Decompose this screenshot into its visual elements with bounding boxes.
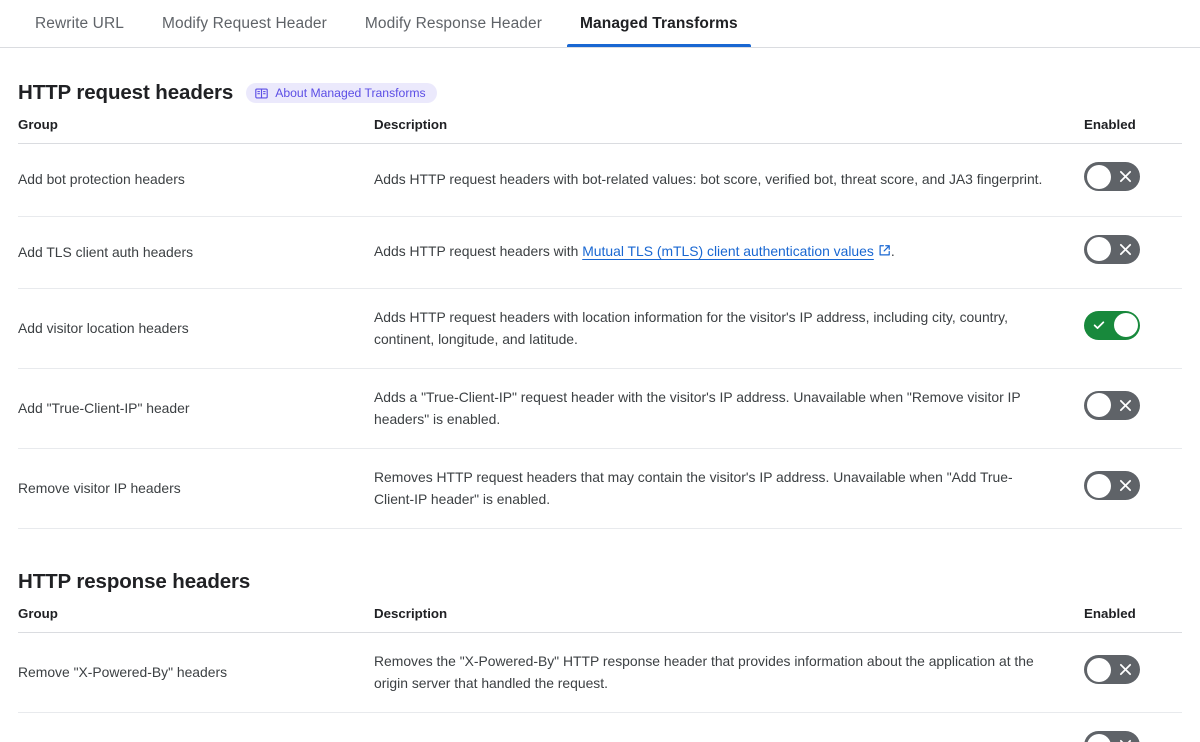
table-row: Add TLS client auth headers Adds HTTP re…	[18, 216, 1182, 289]
row-group-name: Add "True-Client-IP" header	[18, 369, 374, 449]
table-row: Add "True-Client-IP" header Adds a "True…	[18, 369, 1182, 449]
toggle-knob	[1114, 313, 1138, 337]
row-enabled-cell	[1084, 369, 1182, 449]
row-description: Removes the "X-Powered-By" HTTP response…	[374, 633, 1084, 713]
toggle-knob	[1087, 734, 1111, 742]
row-description: Adds HTTP request headers with bot-relat…	[374, 144, 1084, 217]
description-text: Adds HTTP request headers with location …	[374, 309, 1008, 347]
row-description: Adds HTTP request headers with location …	[374, 289, 1084, 369]
tab-rewrite-url[interactable]: Rewrite URL	[22, 0, 137, 47]
row-enabled-cell	[1084, 713, 1182, 742]
tab-label: Managed Transforms	[580, 15, 738, 33]
mtls-docs-link[interactable]: Mutual TLS (mTLS) client authentication …	[582, 243, 874, 259]
row-enabled-cell	[1084, 633, 1182, 713]
cross-icon	[1111, 391, 1140, 420]
enabled-toggle[interactable]	[1084, 311, 1140, 340]
description-text: Removes the "X-Powered-By" HTTP response…	[374, 653, 1034, 691]
request-section-header: HTTP request headers About Managed Trans…	[18, 81, 1182, 105]
row-enabled-cell	[1084, 449, 1182, 529]
tab-label: Rewrite URL	[35, 15, 124, 33]
description-text: Adds HTTP request headers with bot-relat…	[374, 171, 1042, 187]
enabled-toggle[interactable]	[1084, 731, 1140, 742]
row-enabled-cell	[1084, 216, 1182, 289]
check-icon	[1084, 311, 1113, 340]
cross-icon	[1111, 731, 1140, 742]
http-request-headers-section: HTTP request headers About Managed Trans…	[0, 81, 1200, 529]
column-header-description: Description	[374, 117, 1084, 144]
column-header-group: Group	[18, 606, 374, 633]
row-description: Removes HTTP request headers that may co…	[374, 449, 1084, 529]
toggle-knob	[1087, 658, 1111, 682]
table-row: Remove "X-Powered-By" headers Removes th…	[18, 633, 1182, 713]
row-group-name: Add bot protection headers	[18, 144, 374, 217]
row-enabled-cell	[1084, 289, 1182, 369]
description-text: Adds HTTP request headers with	[374, 243, 582, 259]
tab-modify-request-header[interactable]: Modify Request Header	[149, 0, 340, 47]
row-group-name: Remove visitor IP headers	[18, 449, 374, 529]
toggle-knob	[1087, 165, 1111, 189]
table-row: Add security headers Adds several securi…	[18, 713, 1182, 742]
table-row: Add visitor location headers Adds HTTP r…	[18, 289, 1182, 369]
response-headers-table: Group Description Enabled Remove "X-Powe…	[18, 606, 1182, 742]
request-headers-table: Group Description Enabled Add bot protec…	[18, 117, 1182, 529]
enabled-toggle[interactable]	[1084, 162, 1140, 191]
external-link-icon[interactable]	[878, 242, 891, 264]
column-header-enabled: Enabled	[1084, 117, 1182, 144]
row-description: Adds several security-related HTTP respo…	[374, 713, 1084, 742]
about-managed-transforms-badge[interactable]: About Managed Transforms	[246, 83, 436, 103]
table-row: Remove visitor IP headers Removes HTTP r…	[18, 449, 1182, 529]
row-description: Adds HTTP request headers with Mutual TL…	[374, 216, 1084, 289]
response-section-title: HTTP response headers	[18, 570, 250, 594]
tab-managed-transforms[interactable]: Managed Transforms	[567, 0, 751, 47]
enabled-toggle[interactable]	[1084, 391, 1140, 420]
column-header-description: Description	[374, 606, 1084, 633]
description-text-after: .	[891, 243, 895, 259]
toggle-knob	[1087, 237, 1111, 261]
cross-icon	[1111, 655, 1140, 684]
enabled-toggle[interactable]	[1084, 655, 1140, 684]
toggle-knob	[1087, 393, 1111, 417]
enabled-toggle[interactable]	[1084, 471, 1140, 500]
row-group-name: Remove "X-Powered-By" headers	[18, 633, 374, 713]
cross-icon	[1111, 471, 1140, 500]
tab-modify-response-header[interactable]: Modify Response Header	[352, 0, 555, 47]
cross-icon	[1111, 235, 1140, 264]
request-section-title: HTTP request headers	[18, 81, 233, 105]
table-header-row: Group Description Enabled	[18, 606, 1182, 633]
enabled-toggle[interactable]	[1084, 235, 1140, 264]
row-group-name: Add TLS client auth headers	[18, 216, 374, 289]
description-text: Adds a "True-Client-IP" request header w…	[374, 389, 1020, 427]
http-response-headers-section: HTTP response headers Group Description …	[0, 570, 1200, 742]
transform-rules-tabbar: Rewrite URL Modify Request Header Modify…	[0, 0, 1200, 48]
tab-label: Modify Response Header	[365, 15, 542, 33]
response-section-header: HTTP response headers	[18, 570, 1182, 594]
book-icon	[255, 87, 268, 100]
table-row: Add bot protection headers Adds HTTP req…	[18, 144, 1182, 217]
table-header-row: Group Description Enabled	[18, 117, 1182, 144]
row-enabled-cell	[1084, 144, 1182, 217]
row-group-name: Add visitor location headers	[18, 289, 374, 369]
row-description: Adds a "True-Client-IP" request header w…	[374, 369, 1084, 449]
tab-label: Modify Request Header	[162, 15, 327, 33]
cross-icon	[1111, 162, 1140, 191]
row-group-name: Add security headers	[18, 713, 374, 742]
column-header-group: Group	[18, 117, 374, 144]
toggle-knob	[1087, 474, 1111, 498]
about-managed-transforms-label: About Managed Transforms	[275, 86, 425, 100]
column-header-enabled: Enabled	[1084, 606, 1182, 633]
description-text: Removes HTTP request headers that may co…	[374, 469, 1013, 507]
